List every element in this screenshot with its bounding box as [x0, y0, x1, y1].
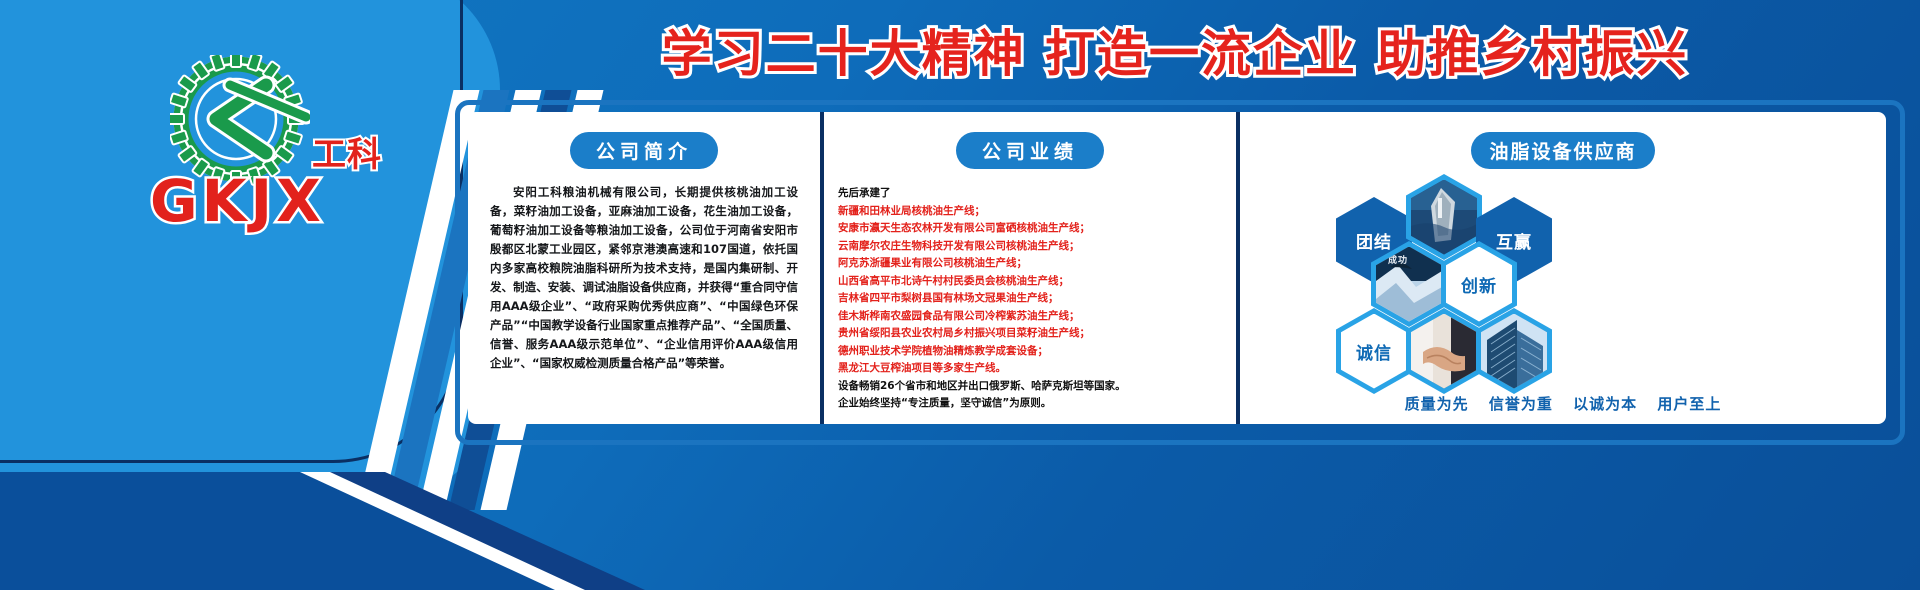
performance-lead: 先后承建了 [838, 185, 1220, 203]
performance-item: 德州职业技术学院植物油精炼教学成套设备； [838, 343, 1220, 361]
aircraft-carrier-photo [1411, 180, 1477, 255]
performance-item: 阿克苏浙疆果业有限公司核桃油生产线； [838, 255, 1220, 273]
performance-item: 安康市瀛天生态农林开发有限公司富硒核桃油生产线； [838, 220, 1220, 238]
hex-label: 互赢 [1496, 228, 1532, 253]
panel-title-supplier: 油脂设备供应商 [1471, 132, 1654, 169]
performance-item: 黑龙江大豆榨油项目等多家生产线。 [838, 360, 1220, 378]
handshake-photo [1411, 314, 1477, 389]
slogan-part-2: 信誉为重 [1489, 395, 1553, 413]
page-title: 学习二十大精神 打造一流企业 助推乡村振兴 [430, 18, 1920, 90]
logo-latin-text: GKJX [150, 167, 325, 235]
performance-items: 新疆和田林业局核桃油生产线；安康市瀛天生态农林开发有限公司富硒核桃油生产线；云南… [838, 203, 1220, 378]
office-building-photo [1481, 314, 1547, 389]
poster-canvas: 工科 GKJX 学习二十大精神 打造一流企业 助推乡村振兴 公司简介 安阳工科粮… [0, 0, 1920, 590]
performance-footer-line: 设备畅销26个省市和地区并出口俄罗斯、哈萨克斯坦等国家。 [838, 378, 1220, 396]
eagle-success-photo: 成功 [1376, 247, 1442, 322]
performance-footer: 设备畅销26个省市和地区并出口俄罗斯、哈萨克斯坦等国家。企业始终坚持“专注质量，… [838, 378, 1220, 413]
performance-footer-line: 企业始终坚持“专注质量，坚守诚信”为原则。 [838, 395, 1220, 413]
svg-text:成功: 成功 [1388, 254, 1408, 266]
hex-cluster: 团结 互赢 [1240, 175, 1886, 407]
header-banner: 学习二十大精神 打造一流企业 助推乡村振兴 [430, 18, 1920, 90]
performance-item: 贵州省绥阳县农业农村局乡村振兴项目菜籽油生产线； [838, 325, 1220, 343]
supplier-slogan: 质量为先 信誉为重 以诚为本 用户至上 [1240, 393, 1886, 414]
performance-item: 吉林省四平市梨树县国有林场文冠果油生产线； [838, 290, 1220, 308]
content-frame: 公司简介 安阳工科粮油机械有限公司，长期提供核桃油加工设备，菜籽油加工设备，亚麻… [468, 112, 1886, 424]
panel-company-performance: 公司业绩 先后承建了 新疆和田林业局核桃油生产线；安康市瀛天生态农林开发有限公司… [820, 112, 1240, 424]
slogan-part-4: 用户至上 [1657, 395, 1721, 413]
panel-company-profile: 公司简介 安阳工科粮油机械有限公司，长期提供核桃油加工设备，菜籽油加工设备，亚麻… [468, 112, 820, 424]
performance-item: 山西省高平市北诗午村村民委员会核桃油生产线； [838, 273, 1220, 291]
panel-supplier: 油脂设备供应商 团结 [1240, 112, 1886, 424]
panel-title-company-performance: 公司业绩 [956, 132, 1104, 169]
performance-item: 新疆和田林业局核桃油生产线； [838, 203, 1220, 221]
slogan-part-3: 以诚为本 [1573, 395, 1637, 413]
company-profile-paragraph: 安阳工科粮油机械有限公司，长期提供核桃油加工设备，菜籽油加工设备，亚麻油加工设备… [490, 183, 798, 373]
performance-list: 先后承建了 新疆和田林业局核桃油生产线；安康市瀛天生态农林开发有限公司富硒核桃油… [838, 185, 1220, 413]
performance-item: 云南摩尔农庄生物科技开发有限公司核桃油生产线； [838, 238, 1220, 256]
hex-label: 诚信 [1341, 314, 1407, 389]
hex-label: 创新 [1446, 247, 1512, 322]
panel-title-company-profile: 公司简介 [570, 132, 718, 169]
performance-item: 佳木斯桦南农盛园食品有限公司冷榨紫苏油生产线； [838, 308, 1220, 326]
company-logo: 工科 GKJX [140, 55, 400, 235]
slogan-part-1: 质量为先 [1405, 395, 1469, 413]
company-profile-text: 安阳工科粮油机械有限公司，长期提供核桃油加工设备，菜籽油加工设备，亚麻油加工设备… [490, 183, 798, 373]
hex-label: 团结 [1356, 228, 1392, 253]
